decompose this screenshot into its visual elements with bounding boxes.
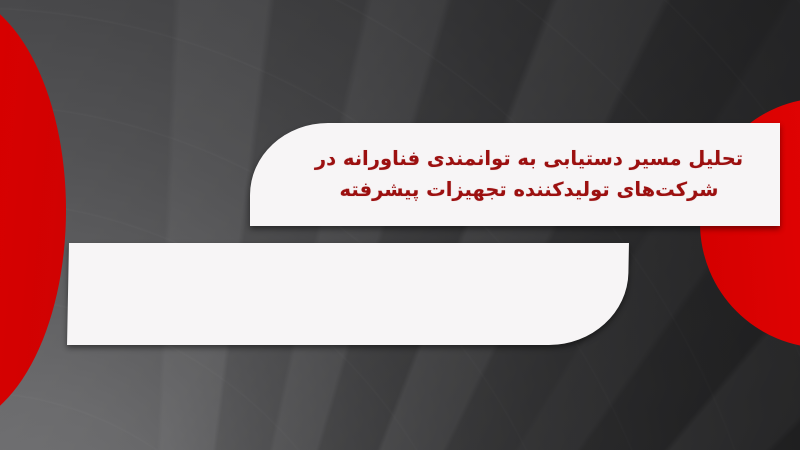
title-line-2: شرکت‌های تولیدکننده تجهیزات پیشرفته xyxy=(304,175,754,205)
subtitle-banner xyxy=(67,243,629,345)
slide-title: تحلیل مسیر دستیابی به توانمندی فناورانه … xyxy=(250,144,780,204)
title-line-1: تحلیل مسیر دستیابی به توانمندی فناورانه … xyxy=(304,144,754,174)
title-slide: تحلیل مسیر دستیابی به توانمندی فناورانه … xyxy=(0,0,800,450)
title-banner: تحلیل مسیر دستیابی به توانمندی فناورانه … xyxy=(250,123,780,226)
